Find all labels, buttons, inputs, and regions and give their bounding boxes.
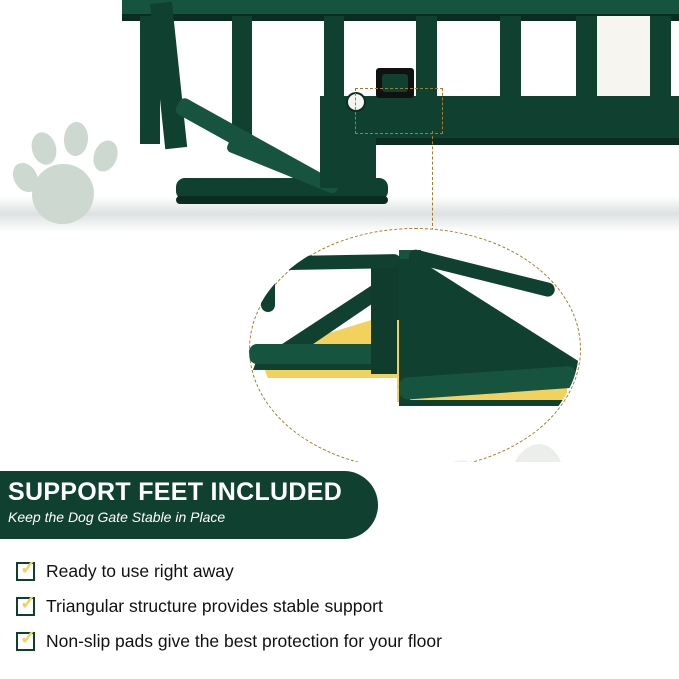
checkbox-checked-icon: ✓ <box>16 562 35 581</box>
list-item-label: Ready to use right away <box>46 561 234 582</box>
support-foot-base-shadow <box>176 196 388 204</box>
detail-foot-group <box>249 228 579 462</box>
product-photo <box>0 0 679 462</box>
callout-leader-line <box>432 131 433 231</box>
checkbox-checked-icon: ✓ <box>16 632 35 651</box>
detail-center-upright <box>371 256 401 374</box>
feature-bullet-list: ✓ Ready to use right away ✓ Triangular s… <box>16 556 656 661</box>
list-item: ✓ Ready to use right away <box>16 556 656 587</box>
detail-tube-hook <box>261 254 275 312</box>
feature-panel: SUPPORT FEET INCLUDED Keep the Dog Gate … <box>0 462 679 679</box>
list-item-label: Non-slip pads give the best protection f… <box>46 631 442 652</box>
list-item: ✓ Non-slip pads give the best protection… <box>16 626 656 657</box>
paw-print-icon <box>392 438 642 462</box>
list-item: ✓ Triangular structure provides stable s… <box>16 591 656 622</box>
gate-slat <box>324 16 344 96</box>
callout-focus-box <box>355 88 443 134</box>
feature-banner: SUPPORT FEET INCLUDED Keep the Dog Gate … <box>0 471 378 539</box>
detail-top-tube-left <box>261 254 401 270</box>
checkbox-checked-icon: ✓ <box>16 597 35 616</box>
paw-print-icon <box>14 122 132 230</box>
banner-title: SUPPORT FEET INCLUDED <box>8 479 378 506</box>
gate-bottom-rail-edge <box>344 138 679 145</box>
banner-subtitle: Keep the Dog Gate Stable in Place <box>8 508 378 526</box>
product-feature-image: SUPPORT FEET INCLUDED Keep the Dog Gate … <box>0 0 679 679</box>
list-item-label: Triangular structure provides stable sup… <box>46 596 383 617</box>
